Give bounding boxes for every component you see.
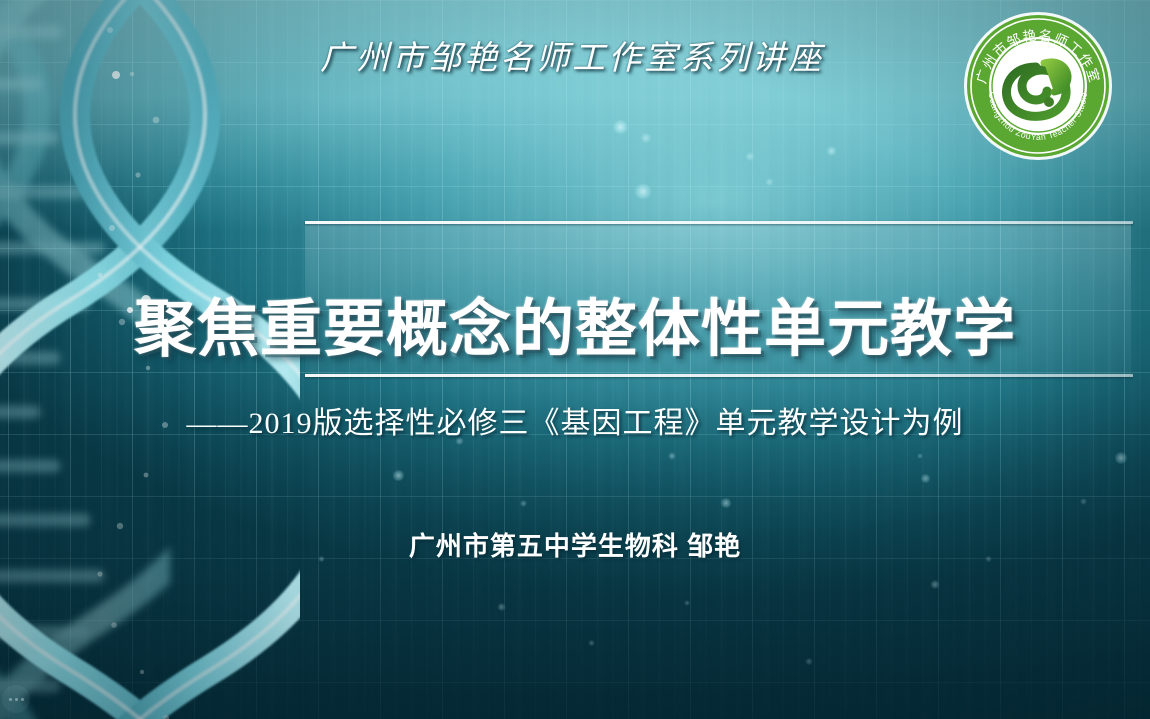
slide-main-title: 聚焦重要概念的整体性单元教学 — [0, 297, 1150, 362]
dot-1 — [9, 698, 12, 701]
slide-subtitle: ——2019版选择性必修三《基因工程》单元教学设计为例 — [0, 398, 1150, 442]
studio-logo: 广州市邹艳名师工作室 Guangzhou ZouYan Teacher Stud… — [963, 11, 1113, 161]
slide-presenter: 广州市第五中学生物科 邹艳 — [0, 526, 1150, 563]
more-options-icon[interactable] — [2, 685, 30, 713]
dot-3 — [21, 698, 24, 701]
title-divider-top — [305, 221, 1133, 224]
title-divider-bottom — [305, 374, 1133, 377]
slide-series-header: 广州市邹艳名师工作室系列讲座 — [320, 39, 824, 80]
dot-2 — [15, 698, 18, 701]
presentation-slide: 广州市邹艳名师工作室系列讲座 广州市邹艳名师工作室 — [0, 0, 1150, 719]
